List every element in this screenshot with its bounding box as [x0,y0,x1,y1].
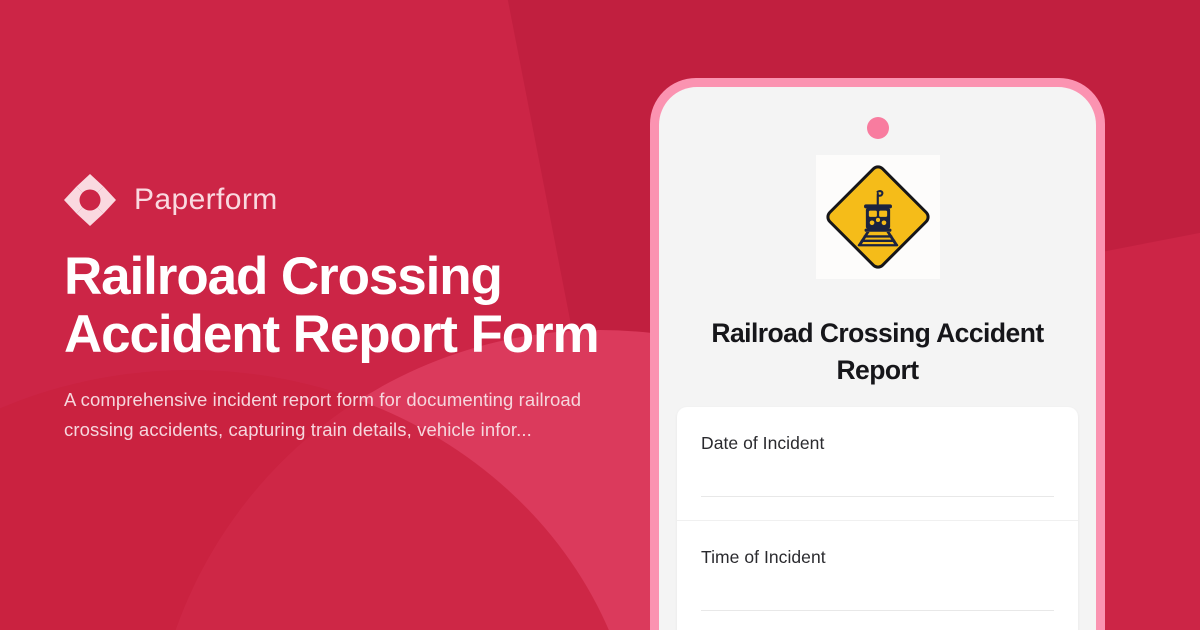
brand-lockup: Paperform [64,174,278,226]
form-field-date-of-incident[interactable]: Date of Incident [677,407,1078,521]
page-title: Railroad Crossing Accident Report Form [64,248,624,364]
railroad-crossing-sign-icon [822,161,934,273]
date-of-incident-input[interactable] [701,496,1054,497]
brand-name: Paperform [134,185,278,215]
page-description: A comprehensive incident report form for… [64,385,584,445]
paperform-flower-logo-icon [64,174,116,226]
phone-mockup: Railroad Crossing Accident Report Date o… [650,78,1105,630]
camera-dot-icon [867,117,889,139]
time-of-incident-input[interactable] [701,610,1054,611]
phone-screen: Railroad Crossing Accident Report Date o… [659,87,1096,630]
og-preview-card: Paperform Railroad Crossing Accident Rep… [0,0,1200,630]
form-logo [816,155,940,279]
form-field-time-of-incident[interactable]: Time of Incident [677,521,1078,630]
field-label: Date of Incident [701,431,1054,455]
hero-panel: Paperform Railroad Crossing Accident Rep… [64,0,624,630]
form-card: Date of Incident Time of Incident [677,407,1078,630]
form-title: Railroad Crossing Accident Report [685,315,1070,389]
field-label: Time of Incident [701,545,1054,569]
